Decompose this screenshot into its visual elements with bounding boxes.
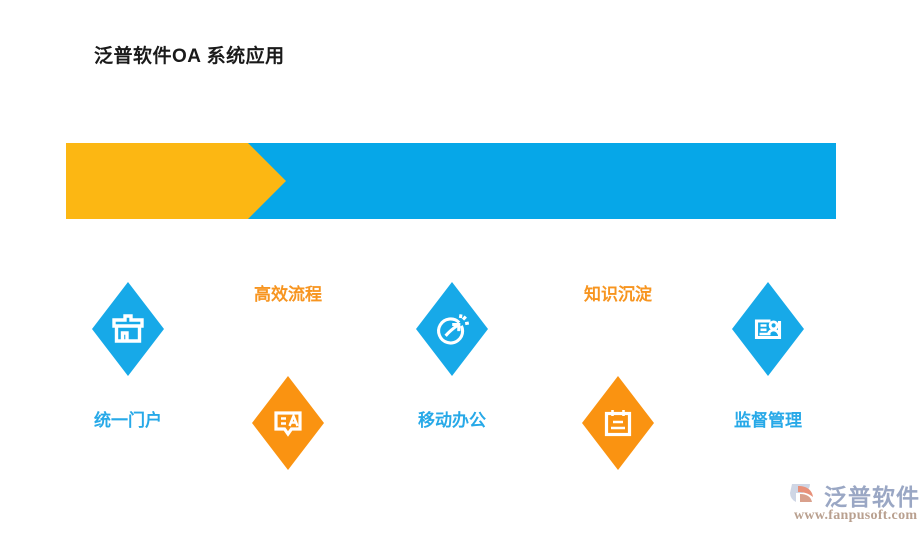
diamond-shape-2	[252, 376, 324, 470]
feature-label-efficient-process: 高效流程	[208, 280, 368, 305]
feature-label-knowledge-accumulation: 知识沉淀	[538, 280, 698, 305]
page-title: 泛普软件OA 系统应用	[94, 41, 285, 68]
banner-orange-arrow-section	[66, 143, 286, 219]
id-card-person-icon	[748, 309, 788, 349]
feature-row: 统一门户	[0, 270, 924, 470]
feature-item-supervision-management[interactable]: 监督管理	[688, 270, 848, 470]
feature-item-knowledge-accumulation[interactable]: 知识沉淀	[538, 270, 698, 470]
feature-label-supervision-management: 监督管理	[688, 406, 848, 431]
feature-label-mobile-office: 移动办公	[372, 406, 532, 431]
feature-label-unified-portal: 统一门户	[48, 406, 208, 431]
watermark-logo: 泛普软件 www.fanpusoft.com	[788, 478, 918, 528]
storefront-icon	[108, 309, 148, 349]
growth-arrow-icon	[432, 309, 472, 349]
banner-bar	[66, 143, 836, 219]
slide-canvas: 泛普软件OA 系统应用 统一门户	[0, 0, 924, 536]
diamond-shape-4	[582, 376, 654, 470]
diamond-shape-3	[416, 282, 488, 376]
chat-translate-icon	[268, 403, 308, 443]
diamond-shape-1	[92, 282, 164, 376]
feature-item-unified-portal[interactable]: 统一门户	[48, 270, 208, 470]
watermark-brand: 泛普软件	[824, 478, 920, 512]
feature-item-efficient-process[interactable]: 高效流程	[208, 270, 368, 470]
watermark-url: www.fanpusoft.com	[794, 508, 917, 524]
clipboard-notes-icon	[598, 403, 638, 443]
diamond-shape-5	[732, 282, 804, 376]
feature-item-mobile-office[interactable]: 移动办公	[372, 270, 532, 470]
